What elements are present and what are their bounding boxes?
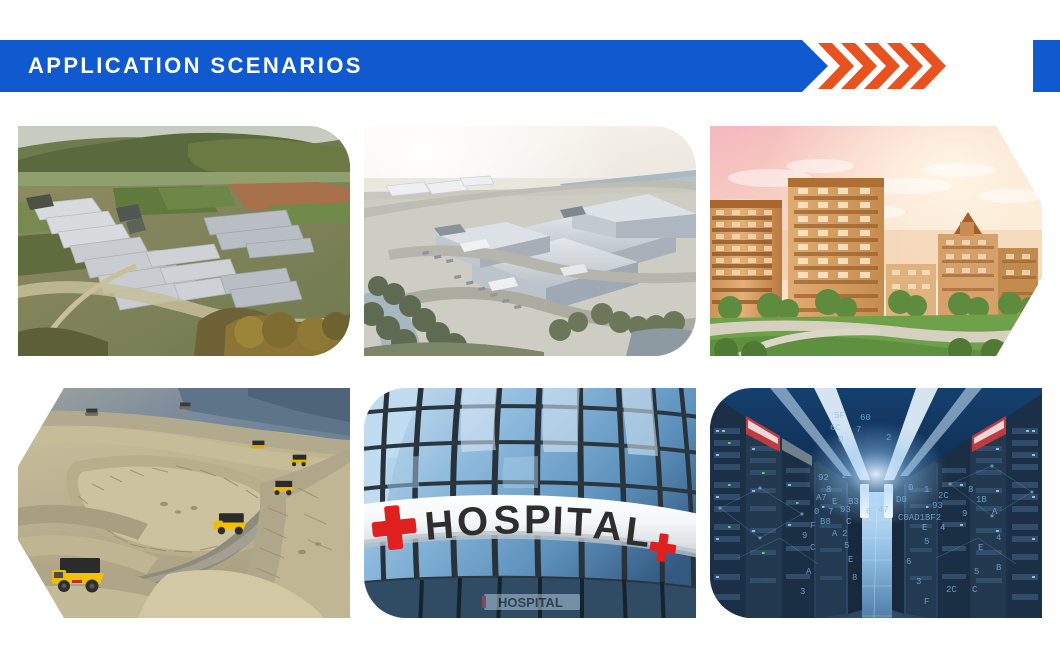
svg-text:A: A	[591, 503, 624, 549]
svg-text:A7: A7	[816, 493, 827, 503]
svg-text:2C: 2C	[946, 585, 957, 595]
scenario-card-residential-apartments[interactable]	[710, 126, 1042, 356]
header-endcap-block	[1033, 40, 1060, 92]
svg-text:1: 1	[924, 485, 929, 495]
data-center-photo: 5F60 6C7 02 922 80 A71 EB3 D02C 81B 07 9…	[710, 388, 1042, 618]
svg-text:5: 5	[974, 567, 979, 577]
svg-text:47: 47	[878, 505, 889, 515]
agriculture-greenhouse-photo	[18, 126, 350, 356]
svg-text:2C: 2C	[938, 491, 949, 501]
svg-text:5: 5	[924, 537, 929, 547]
residential-apartments-photo	[710, 126, 1042, 356]
svg-text:C: C	[810, 543, 816, 553]
svg-text:6C: 6C	[830, 423, 841, 433]
header-banner: APPLICATION SCENARIOS	[0, 40, 1060, 92]
svg-text:HOSPITAL: HOSPITAL	[498, 595, 563, 610]
svg-text:93: 93	[932, 501, 943, 511]
svg-text:5: 5	[844, 541, 849, 551]
svg-text:60: 60	[860, 413, 871, 423]
svg-text:C: C	[846, 517, 852, 527]
svg-text:92: 92	[818, 473, 829, 483]
scenario-image-grid: HOSPITAL H O S	[18, 126, 1042, 621]
svg-text:93: 93	[840, 505, 851, 515]
svg-text:7: 7	[856, 425, 861, 435]
svg-text:I: I	[552, 499, 565, 543]
svg-text:4: 4	[940, 523, 945, 533]
svg-text:9: 9	[962, 509, 967, 519]
chevron-group	[818, 40, 944, 92]
svg-text:S: S	[493, 498, 521, 543]
svg-text:9: 9	[802, 531, 807, 541]
svg-text:P: P	[524, 498, 551, 542]
svg-text:D0: D0	[896, 495, 907, 505]
application-scenarios-page: APPLICATION SCENARIOS	[0, 0, 1060, 659]
svg-text:T: T	[566, 500, 593, 545]
svg-text:5F: 5F	[834, 411, 845, 421]
svg-text:B: B	[996, 563, 1002, 573]
svg-text:8: 8	[968, 485, 973, 495]
svg-text:3: 3	[800, 587, 805, 597]
svg-text:F: F	[924, 597, 929, 607]
svg-text:A: A	[832, 529, 838, 539]
svg-text:C0AD1BF2: C0AD1BF2	[898, 513, 941, 523]
svg-text:2: 2	[842, 471, 847, 481]
svg-text:F: F	[810, 521, 815, 531]
svg-text:E: E	[922, 523, 927, 533]
svg-text:6: 6	[866, 507, 871, 517]
scenario-card-industrial-park[interactable]	[364, 126, 696, 356]
svg-text:7: 7	[828, 507, 833, 517]
mining-site-photo	[18, 388, 350, 618]
svg-text:E: E	[848, 555, 853, 565]
svg-text:1B: 1B	[976, 495, 987, 505]
svg-text:0: 0	[814, 507, 819, 517]
svg-text:H: H	[423, 503, 456, 549]
svg-text:O: O	[456, 499, 490, 545]
scenario-card-hospital-building[interactable]: HOSPITAL H O S	[364, 388, 696, 618]
svg-text:3: 3	[916, 577, 921, 587]
svg-text:0: 0	[838, 435, 843, 445]
svg-text:E: E	[832, 497, 837, 507]
industrial-park-photo	[364, 126, 696, 356]
svg-text:C: C	[972, 585, 978, 595]
scenario-card-agriculture-greenhouse[interactable]	[18, 126, 350, 356]
scenario-card-data-center[interactable]: 5F60 6C7 02 922 80 A71 EB3 D02C 81B 07 9…	[710, 388, 1042, 618]
svg-text:A: A	[806, 567, 812, 577]
svg-text:6: 6	[906, 557, 911, 567]
svg-text:8: 8	[852, 573, 857, 583]
svg-text:2: 2	[886, 433, 891, 443]
svg-text:0: 0	[908, 483, 913, 493]
scenario-card-mining-site[interactable]	[18, 388, 350, 618]
svg-text:2: 2	[842, 529, 847, 539]
svg-text:4: 4	[996, 533, 1001, 543]
hospital-building-photo: HOSPITAL H O S	[364, 388, 696, 618]
page-title: APPLICATION SCENARIOS	[28, 40, 363, 92]
svg-text:E: E	[978, 543, 983, 553]
svg-text:B8: B8	[820, 517, 831, 527]
